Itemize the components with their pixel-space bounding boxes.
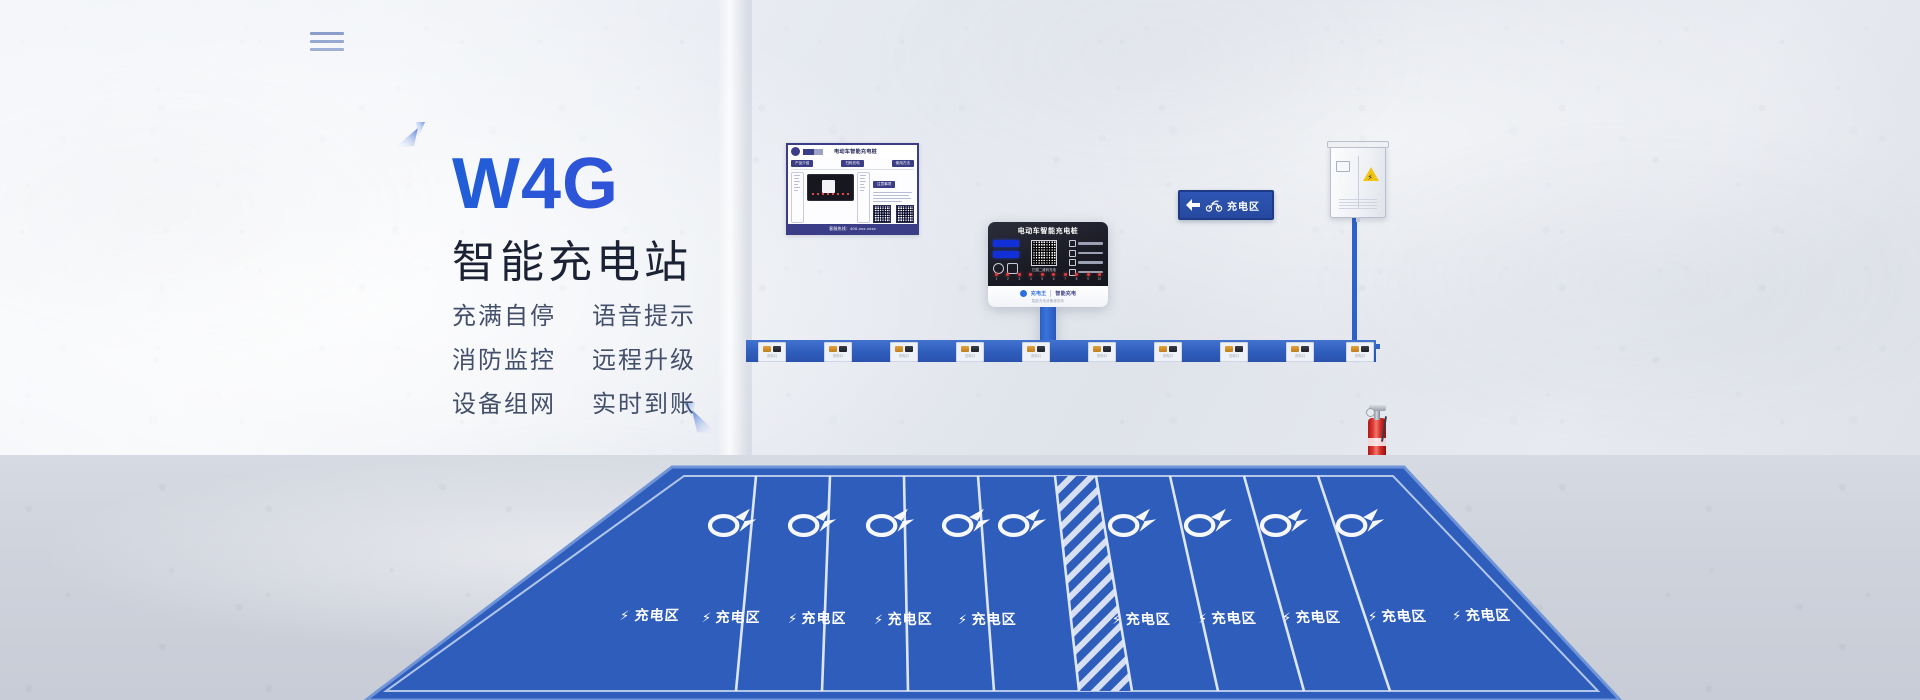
wall-socket[interactable]: 充电口 — [1220, 342, 1248, 362]
poster-device-icon — [807, 174, 854, 201]
brand-logo-icon — [1020, 290, 1027, 297]
port-indicator: 6 — [1051, 273, 1056, 281]
feature-row: 消防监控 远程升级 — [452, 340, 704, 375]
charging-pile-brandbar: 充电王 智能充电 智能充电设备服务商 — [988, 286, 1108, 307]
poster-qr-wechat — [873, 205, 891, 223]
poster-tag: 扫码充电 — [841, 160, 863, 167]
wall-socket[interactable]: 充电口 — [890, 342, 918, 362]
page-subtitle: 智能充电站 — [452, 226, 772, 290]
qr-code-icon — [873, 205, 891, 223]
charging-pile-display — [993, 240, 1019, 274]
arrow-shard-icon — [392, 120, 428, 160]
feature-item: 语音提示 — [592, 296, 704, 331]
port-indicator: 10 — [1097, 273, 1102, 281]
wall-socket[interactable]: 充电口 — [956, 342, 984, 362]
feature-item: 充满自停 — [452, 296, 564, 331]
poster-info-column: 注意事项 — [873, 172, 914, 223]
stall-label[interactable]: ⚡ 充电区 — [874, 609, 933, 629]
poster-device-leds — [812, 193, 849, 195]
stall-label[interactable]: ⚡ 充电区 — [701, 607, 761, 627]
wall-poster: 电动车智能充电桩 产品介绍 扫码充电 使用方法 — [786, 143, 919, 235]
wall-socket[interactable]: 充电口 — [1154, 342, 1182, 362]
floor: ⚡ 充电区 ⚡ 充电区 ⚡ 充电区 ⚡ 充电区 ⚡ 充电区 ⚡ 充电区 — [0, 455, 1920, 700]
charging-pile-port-indicators: 1 2 3 4 5 6 7 8 9 10 — [994, 273, 1102, 281]
feature-item: 设备组网 — [452, 384, 564, 419]
headline-block: W4G 智能充电站 — [452, 150, 772, 290]
stall-label[interactable]: ⚡ 充电区 — [1451, 605, 1512, 625]
poster-tag: 注意事项 — [873, 181, 895, 188]
wall-socket[interactable]: 充电口 — [1022, 342, 1050, 362]
brand-secondary-label: 智能充电 — [1055, 290, 1076, 297]
port-indicator: 7 — [1063, 273, 1068, 281]
poster-footer: 客服热线：400-xxx-xxxx — [788, 224, 917, 233]
electrical-cabinet[interactable]: ⚡ — [1330, 146, 1386, 218]
poster-logo-wordmark — [803, 149, 823, 155]
brand-primary-label: 充电王 — [1031, 290, 1047, 297]
charging-pile-panel: 电动车智能充电桩 扫描二维码充电 — [988, 222, 1108, 286]
card-icon — [1069, 250, 1076, 257]
port-indicator: 2 — [1005, 273, 1010, 281]
port-indicator: 8 — [1074, 273, 1079, 281]
brand-sub-label: 智能充电设备服务商 — [1032, 298, 1064, 303]
stall-label[interactable]: ⚡ 充电区 — [1367, 606, 1428, 626]
poster-qr-miniapp — [896, 205, 914, 223]
e-bike-icon — [1205, 199, 1223, 212]
hero-banner: W4G 智能充电站 充满自停 语音提示 消防监控 远程升级 设备组网 实时到账 … — [0, 0, 1920, 700]
feature-row: 设备组网 实时到账 — [452, 384, 704, 419]
wall-socket[interactable]: 充电口 — [824, 342, 852, 362]
wall-socket-rail: 充电口 充电口 充电口 充电口 充电口 充电口 充电口 充电口 充电口 充电口 — [746, 340, 1376, 362]
left-arrow-icon — [1185, 198, 1201, 212]
extinguisher-gauge — [1366, 408, 1375, 417]
cabinet-wire-vertical — [1352, 216, 1357, 348]
feature-item: 消防监控 — [452, 340, 564, 375]
stall-label[interactable]: ⚡ 充电区 — [619, 605, 681, 625]
qr-code-icon[interactable] — [1031, 240, 1057, 266]
poster-logo-icon — [791, 147, 800, 156]
hamburger-menu-icon[interactable] — [310, 32, 344, 56]
scan-icon — [1069, 259, 1076, 266]
port-indicator: 1 — [994, 273, 999, 281]
hamburger-bar — [310, 40, 344, 43]
port-indicator: 9 — [1086, 273, 1091, 281]
charging-pile-qr-caption: 扫描二维码充电 — [1023, 267, 1065, 272]
seven-segment-display — [993, 240, 1019, 247]
poster-header: 电动车智能充电桩 — [788, 145, 917, 158]
poster-callout-left — [791, 172, 804, 223]
feature-item: 远程升级 — [592, 340, 704, 375]
poster-device-screen — [822, 180, 835, 193]
feature-row: 充满自停 语音提示 — [452, 296, 704, 331]
stall-label[interactable]: ⚡ 充电区 — [1197, 608, 1257, 628]
coin-icon — [1069, 240, 1076, 247]
stall-label[interactable]: ⚡ 充电区 — [1281, 607, 1342, 627]
feature-item: 实时到账 — [592, 384, 704, 419]
wall-socket[interactable]: 充电口 — [1346, 342, 1374, 362]
direction-sign[interactable]: 充电区 — [1178, 190, 1274, 220]
wall-socket[interactable]: 充电口 — [758, 342, 786, 362]
stall-label[interactable]: ⚡ 充电区 — [788, 608, 847, 628]
charging-pile[interactable]: 电动车智能充电桩 扫描二维码充电 — [988, 222, 1108, 307]
hamburger-bar — [310, 32, 344, 35]
direction-sign-label: 充电区 — [1227, 198, 1260, 213]
warning-symbol: ⚡ — [1367, 174, 1373, 182]
stall-label[interactable]: ⚡ 充电区 — [958, 609, 1017, 629]
brand-title: W4G — [452, 150, 772, 218]
hamburger-bar — [310, 48, 344, 51]
stall-label[interactable]: ⚡ 充电区 — [1111, 609, 1171, 629]
poster-device-figure — [807, 172, 854, 223]
parking-lot — [0, 455, 1920, 700]
port-indicator: 4 — [1028, 273, 1033, 281]
wall-socket[interactable]: 充电口 — [1286, 342, 1314, 362]
cabinet-vent — [1339, 199, 1377, 209]
cabinet-latch[interactable] — [1336, 161, 1350, 172]
poster-tag: 产品介绍 — [791, 160, 813, 167]
charging-pile-title: 电动车智能充电桩 — [993, 226, 1103, 236]
cabinet-leg — [1356, 217, 1360, 222]
poster-body: 产品介绍 扫码充电 使用方法 注意事项 — [788, 158, 917, 224]
cabinet-top-cover — [1327, 141, 1389, 148]
qr-code-icon — [896, 205, 914, 223]
seven-segment-display — [993, 251, 1019, 258]
feature-list: 充满自停 语音提示 消防监控 远程升级 设备组网 实时到账 — [452, 296, 704, 428]
port-indicator: 3 — [1017, 273, 1022, 281]
wall-socket[interactable]: 充电口 — [1088, 342, 1116, 362]
poster-title: 电动车智能充电桩 — [826, 148, 885, 155]
port-indicator: 5 — [1040, 273, 1045, 281]
poster-tag: 使用方法 — [892, 160, 914, 167]
poster-callout-right — [857, 172, 870, 223]
